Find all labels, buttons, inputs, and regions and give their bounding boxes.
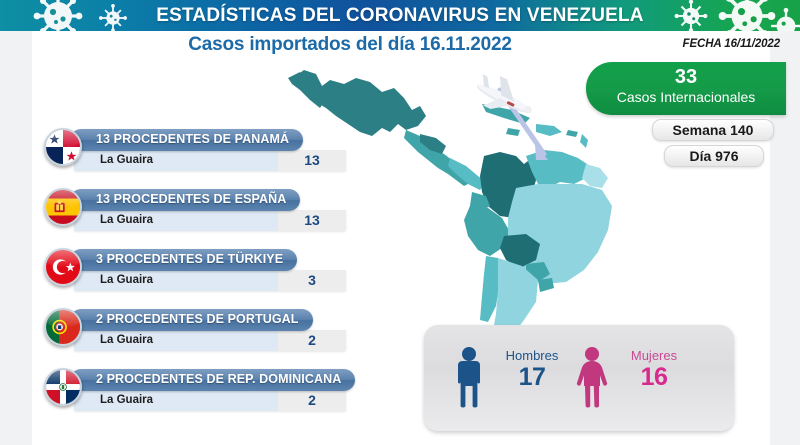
dominican-republic-flag-icon: [44, 368, 82, 406]
country-list: La Guaira 13 13 PROCEDENTES DE PANAMÁ La…: [44, 126, 384, 426]
portugal-flag-icon: [44, 308, 82, 346]
female-figure-icon: [574, 346, 610, 408]
panama-flag-icon: [44, 128, 82, 166]
state-name: La Guaira: [100, 330, 153, 351]
spain-flag-icon: [44, 188, 82, 226]
map-region-venezuela: [526, 150, 590, 188]
state-count: 3: [278, 270, 346, 291]
international-cases-count: 33: [586, 62, 786, 89]
gender-women-value: 16: [616, 364, 692, 391]
map-region-lesser-antilles: [580, 134, 588, 148]
state-row: La Guaira 2: [74, 390, 346, 411]
international-cases-label: Casos Internacionales: [586, 89, 786, 105]
state-row: La Guaira 3: [74, 270, 346, 291]
state-name: La Guaira: [100, 150, 153, 171]
country-block-turkey: La Guaira 3 3 PROCEDENTES DE TÜRKIYE: [44, 246, 384, 306]
gender-men-label: Hombres: [494, 347, 570, 364]
page-title: ESTADÍSTICAS DEL CORONAVIRUS EN VENEZUEL…: [0, 0, 800, 31]
state-count: 13: [278, 210, 346, 231]
country-title: 2 PROCEDENTES DE PORTUGAL: [70, 309, 313, 331]
country-title: 13 PROCEDENTES DE ESPAÑA: [70, 189, 300, 211]
state-row: La Guaira 13: [74, 150, 346, 171]
state-row: La Guaira 2: [74, 330, 346, 351]
fecha-label: FECHA 16/11/2022: [683, 38, 780, 50]
country-block-panama: La Guaira 13 13 PROCEDENTES DE PANAMÁ: [44, 126, 384, 186]
gender-women-text: Mujeres 16: [616, 347, 692, 391]
state-count: 2: [278, 390, 346, 411]
map-region-puertorico: [566, 130, 578, 137]
gender-panel: Hombres 17 Mujeres 16: [424, 325, 734, 431]
country-title: 3 PROCEDENTES DE TÜRKIYE: [70, 249, 297, 271]
state-count: 2: [278, 330, 346, 351]
country-title: 2 PROCEDENTES DE REP. DOMINICANA: [70, 369, 355, 391]
map-region-guyanas: [582, 164, 608, 188]
state-row: La Guaira 13: [74, 210, 346, 231]
country-title: 13 PROCEDENTES DE PANAMÁ: [70, 129, 303, 151]
country-block-portugal: La Guaira 2 2 PROCEDENTES DE PORTUGAL: [44, 306, 384, 366]
day-pill: Día 976: [664, 145, 764, 167]
country-block-spain: La Guaira 13 13 PROCEDENTES DE ESPAÑA: [44, 186, 384, 246]
male-figure-icon: [452, 346, 486, 408]
gender-women-label: Mujeres: [616, 347, 692, 364]
map-region-jamaica: [506, 128, 520, 136]
state-name: La Guaira: [100, 270, 153, 291]
international-cases-badge: 33 Casos Internacionales: [586, 62, 786, 115]
gender-men-value: 17: [494, 364, 570, 391]
map-region-uruguay: [538, 278, 554, 292]
state-name: La Guaira: [100, 210, 153, 231]
gender-men-text: Hombres 17: [494, 347, 570, 391]
state-count: 13: [278, 150, 346, 171]
header-bar: ESTADÍSTICAS DEL CORONAVIRUS EN VENEZUEL…: [0, 0, 800, 31]
country-block-dominican-republic: La Guaira 2 2 PROCEDENTES DE REP. DOMINI…: [44, 366, 384, 426]
map-region-hispaniola: [536, 124, 562, 136]
subtitle: Casos importados del día 16.11.2022: [110, 34, 590, 56]
turkey-flag-icon: [44, 248, 82, 286]
state-name: La Guaira: [100, 390, 153, 411]
week-pill: Semana 140: [652, 119, 774, 141]
